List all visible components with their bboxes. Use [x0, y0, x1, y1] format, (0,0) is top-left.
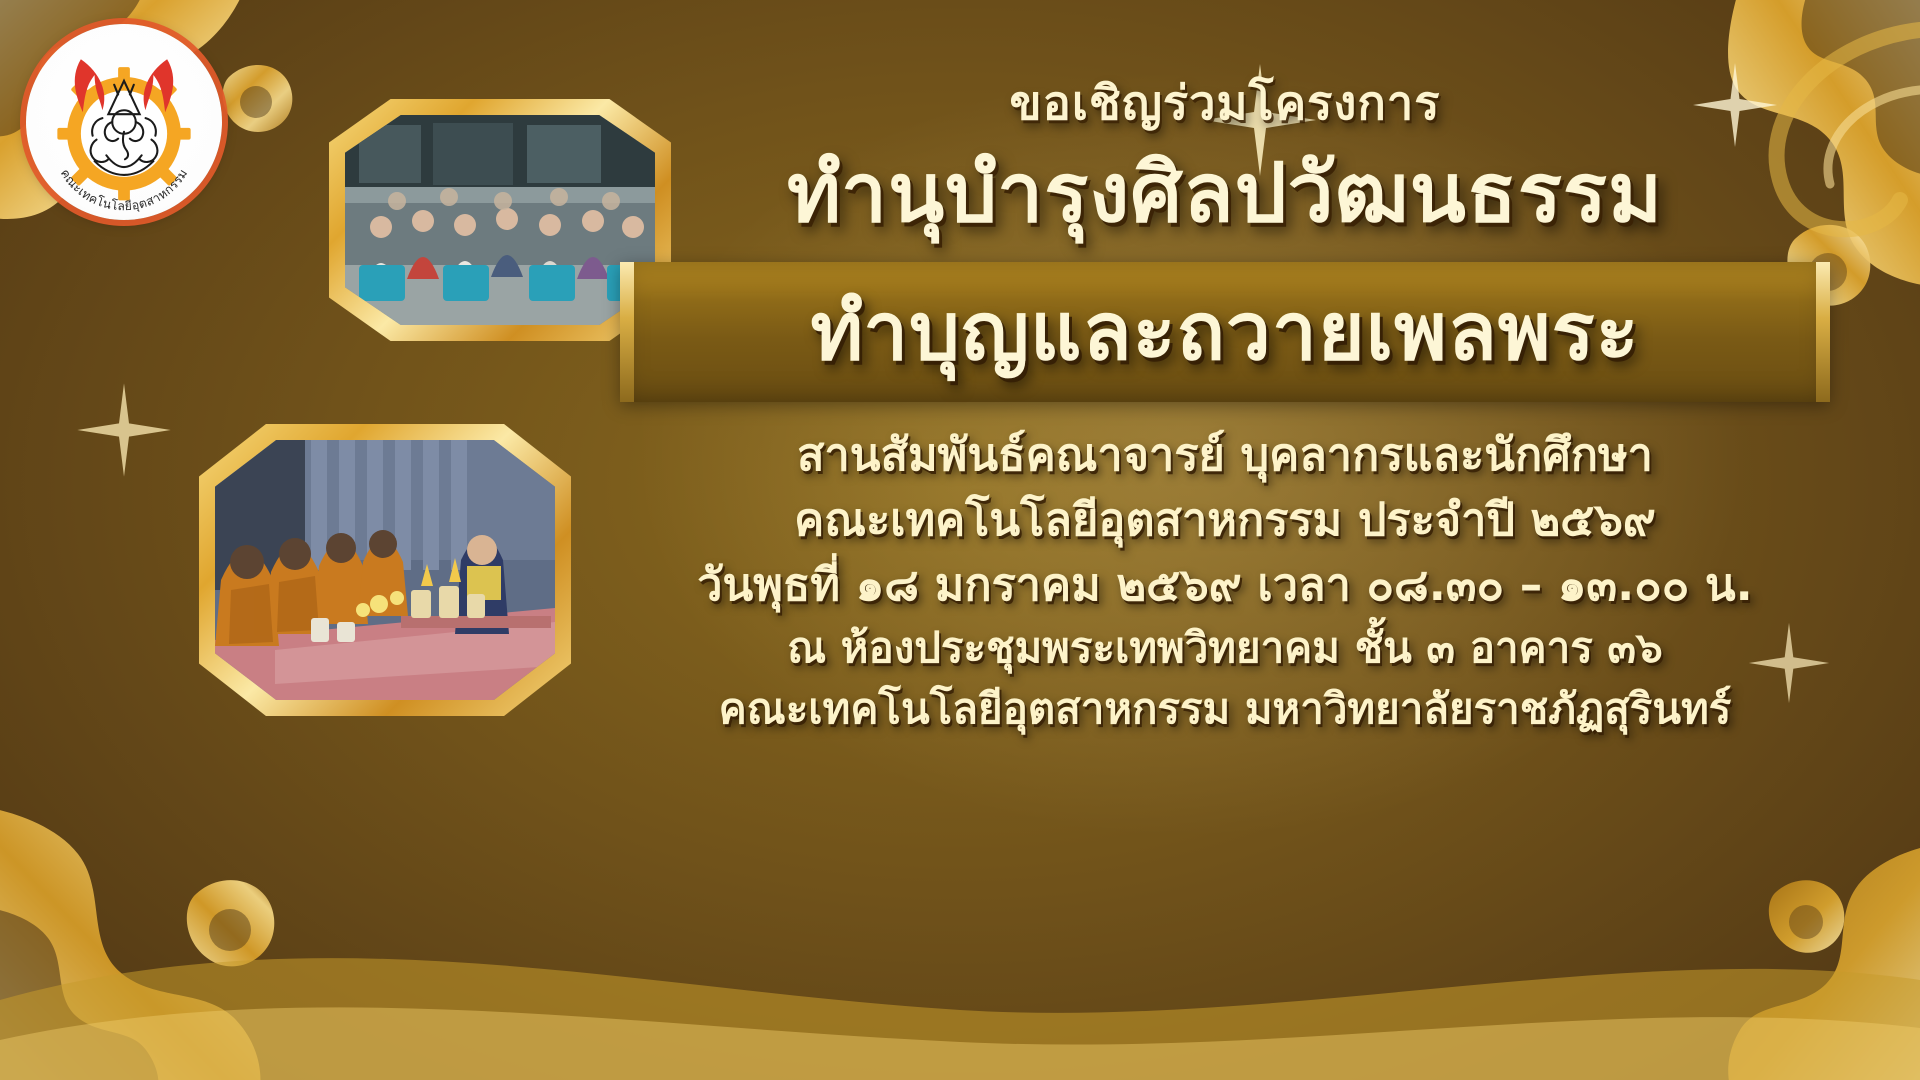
detail-line-organizer: คณะเทคโนโลยีอุตสาหกรรม มหาวิทยาลัยราชภัฏ… [560, 682, 1890, 735]
headline-secondary: ทำบุญและถวายเพลพระ [810, 292, 1639, 372]
ornament-bottom-wave [0, 850, 1920, 1080]
kicker-line: ขอเชิญร่วมโครงการ [560, 78, 1890, 130]
detail-line-venue: ณ ห้องประชุมพระเทพวิทยาคม ชั้น ๓ อาคาร ๓… [560, 621, 1890, 674]
poster-text-block: ขอเชิญร่วมโครงการ ทำนุบำรุงศิลปวัฒนธรรม … [560, 78, 1890, 736]
monks-illustration [215, 440, 555, 700]
detail-line-date-time: วันพุธที่ ๑๘ มกราคม ๒๕๖๙ เวลา ๐๘.๓๐ – ๑๓… [560, 556, 1890, 613]
poster-canvas: คณะเทคโนโลยีอุตสาหกรรม [0, 0, 1920, 1080]
headline-banner: ทำบุญและถวายเพลพระ [620, 262, 1830, 402]
detail-line-faculty-year: คณะเทคโนโลยีอุตสาหกรรม ประจำปี ๒๕๖๙ [560, 491, 1890, 548]
monks-ceremony-photo [215, 440, 555, 700]
ornament-bottom-right [1458, 726, 1920, 1080]
ganesha-emblem-icon: คณะเทคโนโลยีอุตสาหกรรม [26, 24, 222, 220]
detail-line-participants: สานสัมพันธ์คณาจารย์ บุคลากรและนักศึกษา [560, 426, 1890, 483]
ornament-bottom-left [0, 658, 550, 1080]
headline-primary: ทำนุบำรุงศิลปวัฒนธรรม [560, 148, 1890, 240]
sparkle-icon [74, 380, 174, 480]
faculty-logo: คณะเทคโนโลยีอุตสาหกรรม [26, 24, 222, 220]
